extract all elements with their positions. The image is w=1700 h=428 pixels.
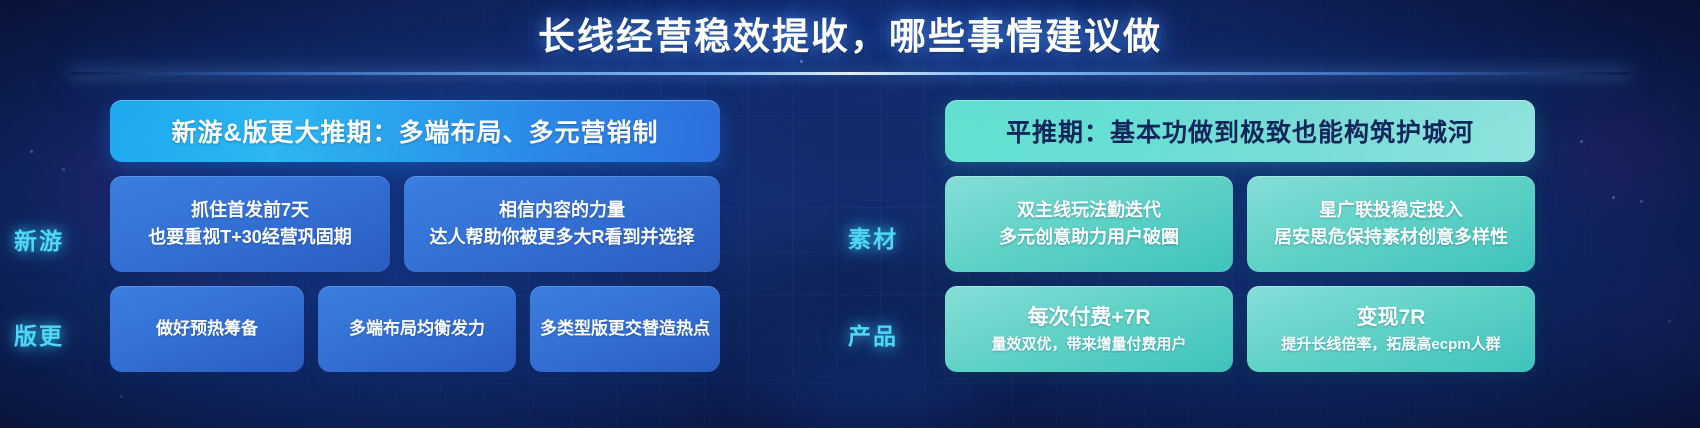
row-label-new-game: 新游 bbox=[14, 222, 64, 256]
card-line-1: 变现7R bbox=[1357, 302, 1426, 334]
card-line-2: 提升长线倍率，拓展高ecpm人群 bbox=[1281, 334, 1500, 357]
slide-title-container: 长线经营稳效提收，哪些事情建议做 bbox=[0, 6, 1700, 60]
card-line-2: 居安思危保持素材创意多样性 bbox=[1274, 224, 1508, 251]
card-line-1: 星广联投稳定投入 bbox=[1319, 197, 1463, 224]
card-monetization-7r[interactable]: 变现7R 提升长线倍率，拓展高ecpm人群 bbox=[1247, 286, 1535, 372]
right-panel-row-1: 双主线玩法勤迭代 多元创意助力用户破圈 星广联投稳定投入 居安思危保持素材创意多… bbox=[945, 176, 1535, 272]
left-panel-row-2: 做好预热筹备 多端布局均衡发力 多类型版更交替造热点 bbox=[110, 286, 720, 372]
left-panel: 新游&版更大推期：多端布局、多元营销制 抓住首发前7天 也要重视T+30经营巩固… bbox=[110, 100, 720, 372]
row-label-version-update: 版更 bbox=[14, 317, 64, 351]
right-panel-band[interactable]: 平推期：基本功做到极致也能构筑护城河 bbox=[945, 100, 1535, 162]
card-content-power[interactable]: 相信内容的力量 达人帮助你被更多大R看到并选择 bbox=[404, 176, 720, 272]
right-panel: 平推期：基本功做到极致也能构筑护城河 双主线玩法勤迭代 多元创意助力用户破圈 星… bbox=[945, 100, 1535, 372]
card-line-1: 相信内容的力量 bbox=[499, 197, 625, 224]
card-payment-7r[interactable]: 每次付费+7R 量效双优，带来增量付费用户 bbox=[945, 286, 1233, 372]
card-line-1: 多端布局均衡发力 bbox=[349, 316, 485, 342]
card-preheat-prep[interactable]: 做好预热筹备 bbox=[110, 286, 304, 372]
left-panel-band[interactable]: 新游&版更大推期：多端布局、多元营销制 bbox=[110, 100, 720, 162]
card-dual-main-gameplay[interactable]: 双主线玩法勤迭代 多元创意助力用户破圈 bbox=[945, 176, 1233, 272]
card-line-1: 多类型版更交替造热点 bbox=[540, 316, 710, 342]
row-label-product: 产品 bbox=[848, 317, 898, 351]
card-line-2: 达人帮助你被更多大R看到并选择 bbox=[430, 224, 695, 251]
card-line-1: 做好预热筹备 bbox=[156, 316, 258, 342]
card-star-ad-investment[interactable]: 星广联投稳定投入 居安思危保持素材创意多样性 bbox=[1247, 176, 1535, 272]
card-line-1: 抓住首发前7天 bbox=[191, 197, 309, 224]
card-line-2: 也要重视T+30经营巩固期 bbox=[148, 224, 352, 251]
page-title: 长线经营稳效提收，哪些事情建议做 bbox=[538, 6, 1162, 60]
card-line-1: 双主线玩法勤迭代 bbox=[1017, 197, 1161, 224]
right-panel-row-2: 每次付费+7R 量效双优，带来增量付费用户 变现7R 提升长线倍率，拓展高ecp… bbox=[945, 286, 1535, 372]
card-new-game-launch[interactable]: 抓住首发前7天 也要重视T+30经营巩固期 bbox=[110, 176, 390, 272]
row-label-creative: 素材 bbox=[848, 220, 898, 254]
card-line-1: 每次付费+7R bbox=[1027, 302, 1150, 334]
card-version-hotspot[interactable]: 多类型版更交替造热点 bbox=[530, 286, 720, 372]
title-divider-glow bbox=[70, 72, 1630, 75]
card-line-2: 多元创意助力用户破圈 bbox=[999, 224, 1179, 251]
card-line-2: 量效双优，带来增量付费用户 bbox=[991, 334, 1186, 357]
left-panel-row-1: 抓住首发前7天 也要重视T+30经营巩固期 相信内容的力量 达人帮助你被更多大R… bbox=[110, 176, 720, 272]
card-multi-channel[interactable]: 多端布局均衡发力 bbox=[318, 286, 516, 372]
